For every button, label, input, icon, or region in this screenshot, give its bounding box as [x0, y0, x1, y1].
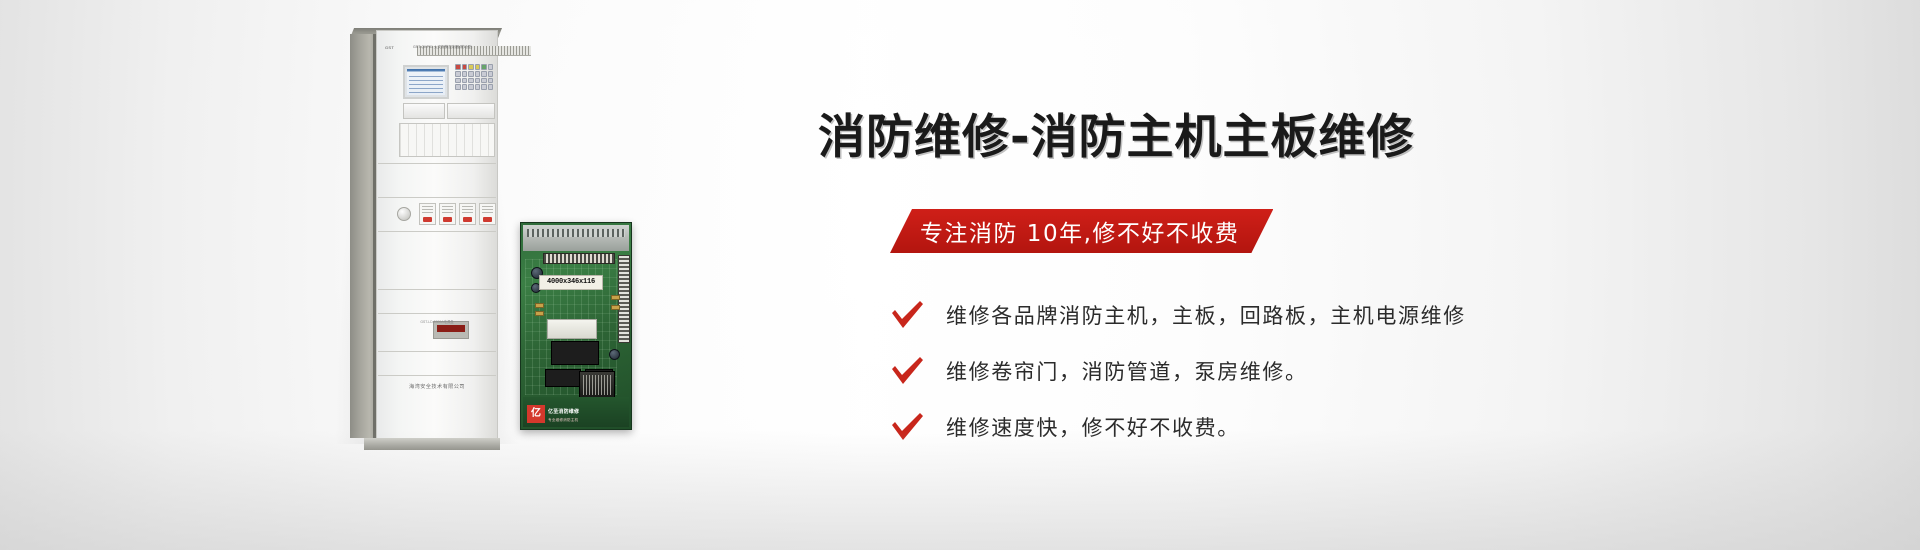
cabinet-brand-mark: GST [385, 45, 394, 50]
banner-stage: GST GST-QKP01 火灾报警控制器(联动型) [0, 0, 1920, 550]
keypad-key [488, 71, 494, 77]
list-item-label: 维修卷帘门，消防管道，泵房维修。 [946, 356, 1308, 386]
keypad-key [488, 64, 494, 70]
keypad-key [488, 78, 494, 84]
cabinet-control-module-row [397, 203, 497, 225]
control-block [459, 203, 476, 225]
keypad-key [468, 71, 474, 77]
list-item-label: 维修各品牌消防主机，主板，回路板，主机电源维修 [946, 300, 1466, 330]
keypad-key [481, 64, 487, 70]
keypad-key [468, 84, 474, 90]
list-item: 维修卷帘门，消防管道，泵房维修。 [890, 356, 1466, 386]
keypad-key [462, 84, 468, 90]
ic-chip [545, 369, 581, 387]
cabinet-panel-seam [378, 163, 496, 164]
keypad-key [481, 84, 487, 90]
control-block [419, 203, 436, 225]
keypad-key [468, 78, 474, 84]
list-item: 维修速度快，修不好不收费。 [890, 412, 1466, 442]
cabinet-module-bar [403, 103, 445, 119]
keypad-key [481, 71, 487, 77]
cabinet-module-bar [447, 103, 495, 119]
cabinet-panel-seam [378, 351, 496, 352]
lcd-text-rows [409, 76, 443, 93]
keypad-key [455, 64, 461, 70]
capacitor-icon [609, 349, 620, 360]
cabinet-panel-seam [378, 375, 496, 376]
circuit-board-image: 4000x346x116 亿 亿圣消防维修 专业维修消防主机 [520, 222, 632, 430]
cabinet-model-text: GST-QKP01 火灾报警控制器(联动型) [413, 45, 472, 50]
cabinet-base-plinth [364, 438, 500, 450]
keypad-key [481, 78, 487, 84]
promo-banner: GST GST-QKP01 火灾报警控制器(联动型) [0, 0, 1920, 550]
list-item-label: 维修速度快，修不好不收费。 [946, 412, 1240, 442]
control-block [479, 203, 496, 225]
page-title: 消防维修-消防主机主板维修 [818, 98, 1415, 167]
resistor-icon [535, 303, 544, 308]
resistor-icon [611, 305, 620, 310]
ic-chip [551, 341, 599, 365]
cabinet-front-face: GST GST-QKP01 火灾报警控制器(联动型) [376, 30, 498, 440]
keypad-key [475, 64, 481, 70]
pcb-white-component [547, 319, 597, 339]
cabinet-panel-seam [378, 313, 496, 314]
pcb-terminal-strip [523, 225, 629, 251]
keypad-key [455, 71, 461, 77]
cabinet-power-label: GST-LD-8300A电源盘 [377, 319, 497, 324]
check-icon [890, 356, 924, 386]
fire-alarm-control-panel-image: GST GST-QKP01 火灾报警控制器(联动型) [342, 14, 512, 446]
repair-company-name: 亿圣消防维修 [548, 408, 579, 415]
cabinet-lcd-screen [403, 65, 449, 99]
keypad-key [475, 78, 481, 84]
list-item: 维修各品牌消防主机，主板，回路板，主机电源维修 [890, 300, 1466, 330]
pcb-silkscreen-label: 4000x346x116 [539, 275, 603, 290]
cabinet-panel-seam [378, 197, 496, 198]
repair-company-logo: 亿 [527, 405, 545, 423]
keypad-key [468, 64, 474, 70]
promo-ribbon-text: 专注消防 10年,修不好不收费 [920, 214, 1239, 248]
cabinet-company-label: 海湾安全技术有限公司 [377, 383, 497, 390]
cabinet-panel-seam [378, 231, 496, 232]
keypad-key [455, 78, 461, 84]
resistor-icon [535, 311, 544, 316]
cabinet-keypad [455, 64, 493, 90]
resistor-icon [611, 295, 620, 300]
rotary-knob-icon [397, 207, 411, 221]
pcb-ic-socket [579, 371, 615, 399]
keypad-key [488, 84, 494, 90]
cabinet-zone-indicator-grid [399, 123, 495, 157]
keypad-key [462, 64, 468, 70]
keypad-key [475, 84, 481, 90]
feature-list: 维修各品牌消防主机，主板，回路板，主机电源维修 维修卷帘门，消防管道，泵房维修。… [890, 300, 1466, 468]
control-block [439, 203, 456, 225]
keypad-key [455, 84, 461, 90]
keypad-key [462, 71, 468, 77]
lcd-inner [407, 69, 445, 95]
check-icon [890, 412, 924, 442]
keypad-key [462, 78, 468, 84]
pcb-header-connector [543, 253, 615, 264]
repair-company-tagline: 专业维修消防主机 [548, 418, 578, 423]
keypad-key [475, 71, 481, 77]
cabinet-panel-seam [378, 289, 496, 290]
promo-ribbon: 专注消防 10年,修不好不收费 [890, 209, 1273, 253]
check-icon [890, 300, 924, 330]
pcb-body: 4000x346x116 亿 亿圣消防维修 专业维修消防主机 [520, 222, 632, 430]
